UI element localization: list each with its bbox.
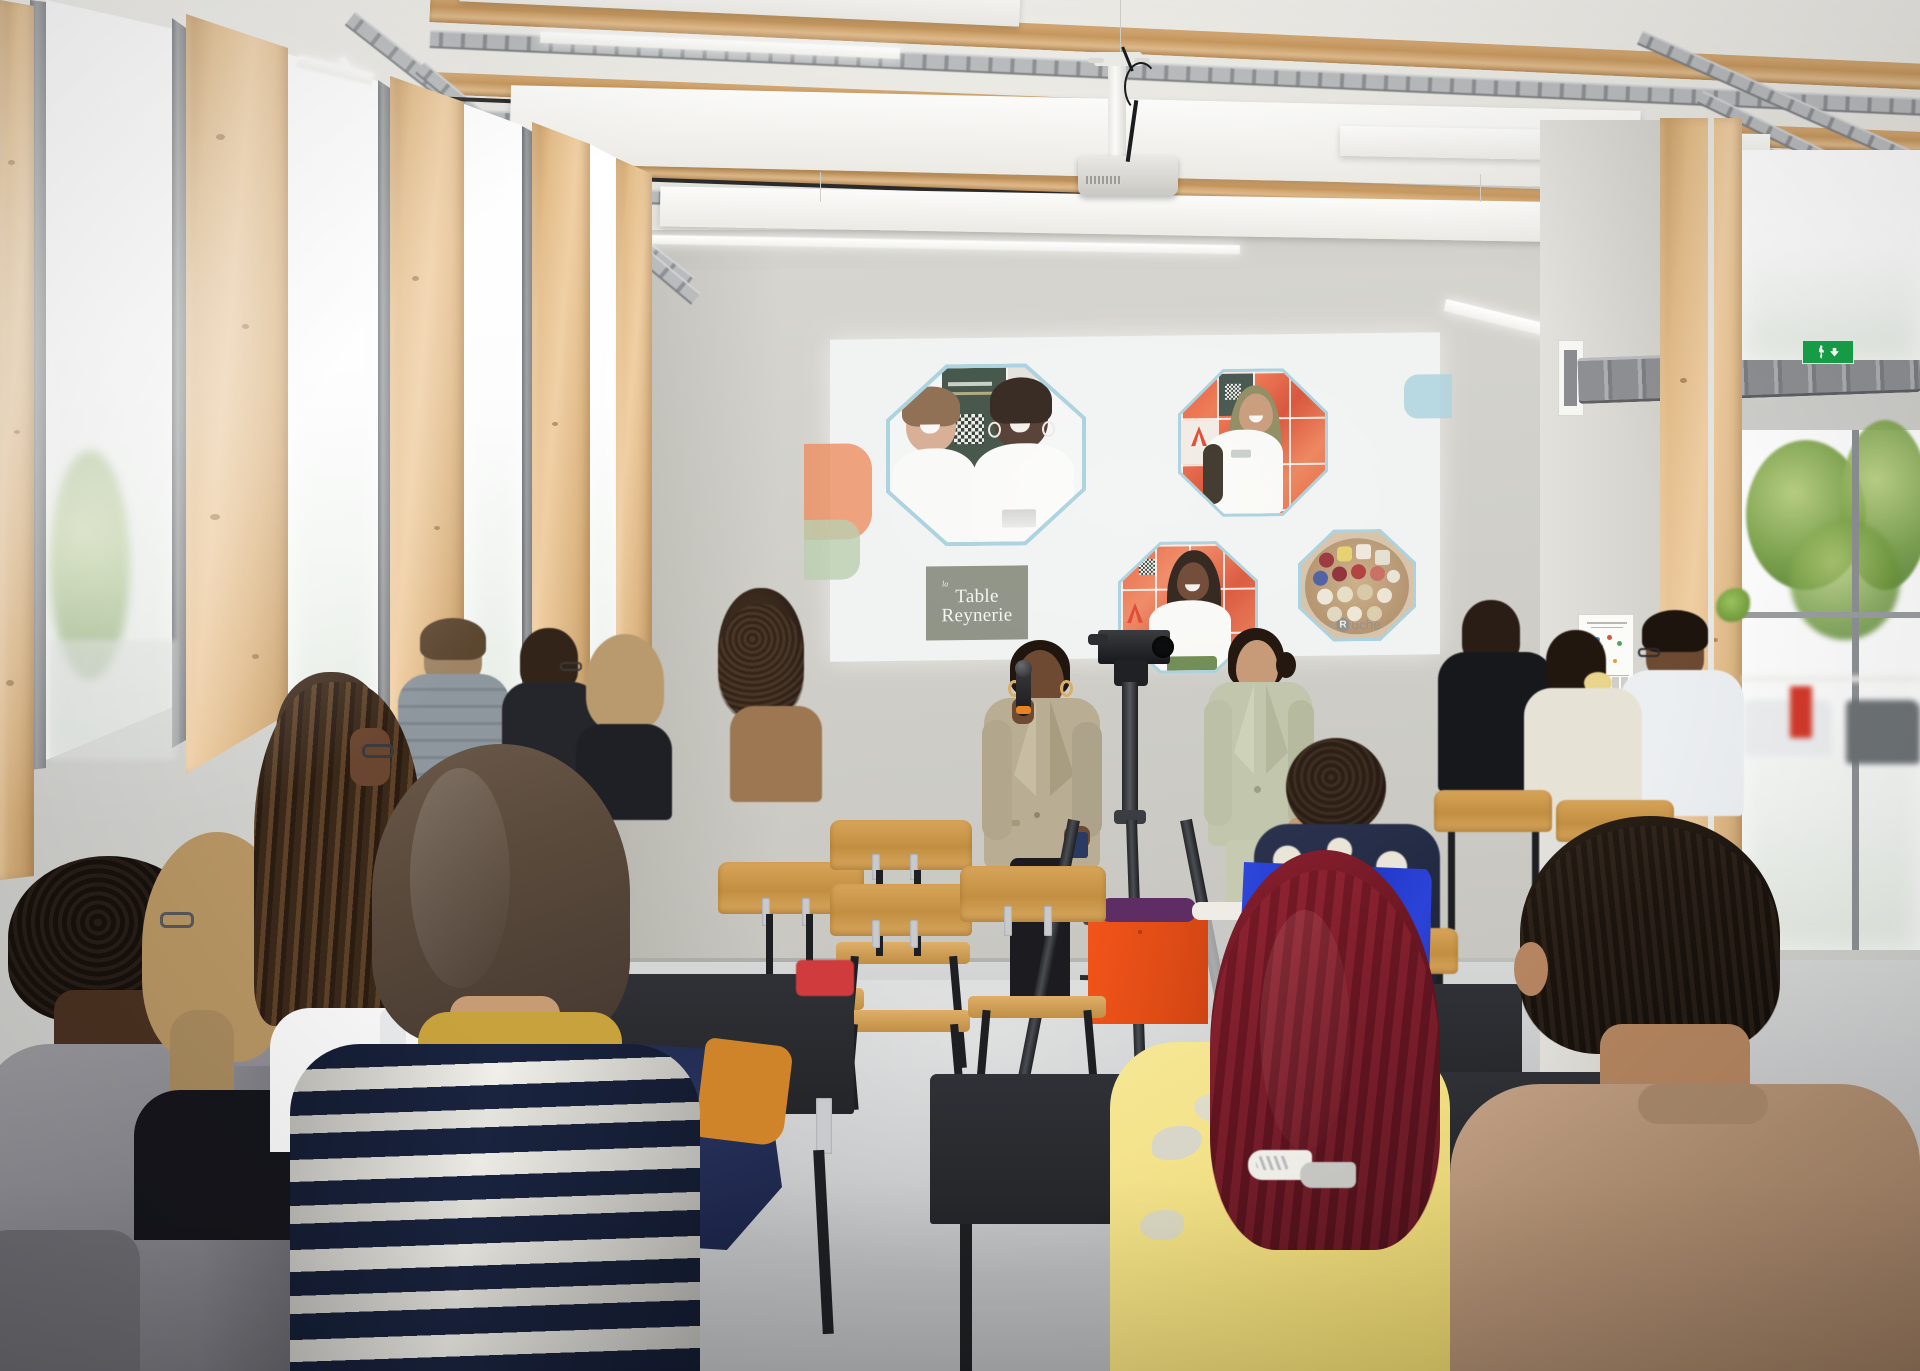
conference-room-photo: la Table Reynerie la R uche — [0, 0, 1920, 1371]
brand-logo-line2: Reynerie — [942, 606, 1013, 625]
attendee-tan-shirt — [1450, 816, 1920, 1371]
chair-leg-left — [960, 1224, 972, 1371]
microphone-band — [1016, 706, 1031, 714]
slide-woman-a-hair — [902, 386, 960, 427]
window-mullion-2 — [172, 18, 186, 748]
red-hair-highlight — [1260, 910, 1350, 1150]
slide-woman-b-earring-right — [1042, 421, 1055, 437]
tripod-centre-column — [1122, 682, 1138, 814]
blouse-floral-motif-3 — [1140, 1210, 1184, 1240]
pastry-12 — [1357, 584, 1373, 600]
slide-shape-green — [804, 519, 860, 580]
emergency-exit-sign — [1802, 340, 1854, 364]
exit-arrow-icon — [1830, 348, 1839, 357]
window-pane-2 — [288, 54, 380, 754]
microphone-head — [1015, 660, 1032, 677]
running-man-icon — [1817, 345, 1826, 359]
chair-back-clip-left — [872, 920, 880, 948]
slide-headscarf-face — [1239, 393, 1273, 433]
window-right-transom — [1742, 612, 1920, 618]
chair-back — [960, 866, 1106, 922]
blonde-ponytail-glasses — [160, 912, 194, 928]
host-logo-hexagon-mark: R — [1336, 617, 1349, 632]
timber-post-1 — [0, 0, 34, 880]
pastry-2 — [1337, 546, 1352, 561]
blonde-bun-hair — [586, 634, 664, 730]
bob-striped-top-shadow — [290, 1044, 700, 1371]
slide-woman-b-earring-left — [988, 422, 1001, 438]
slide-host-logo: la R uche — [1328, 617, 1381, 633]
window-pane-4 — [590, 144, 616, 704]
curly-hair-strands — [718, 604, 804, 720]
attendee-bob-striped-top — [290, 744, 700, 1371]
projector-vent-grille — [1086, 176, 1122, 184]
projector-mount-arm-left — [1088, 58, 1104, 63]
camera-lens — [1152, 636, 1174, 658]
pastry-10 — [1317, 589, 1333, 605]
grey-sneaker-on-floor — [1300, 1162, 1356, 1188]
panel-hanger-wire-3 — [1480, 174, 1481, 202]
host-logo-prefix: la — [1328, 622, 1333, 629]
chair-bracket-right — [816, 1098, 832, 1154]
slide-woman-b-tshirt — [974, 443, 1074, 543]
slide-tshirt-logo — [1002, 509, 1036, 527]
attendee-red-hair-yellow-floral — [1110, 850, 1470, 1371]
timber-post-2 — [186, 14, 288, 774]
tan-shirt-body — [1450, 1084, 1920, 1371]
dark-hair-head — [520, 628, 578, 690]
host-logo-text: uche — [1351, 617, 1380, 632]
presenter1-arm-left — [982, 720, 1012, 840]
tan-shirt-hair-texture — [1520, 826, 1780, 1054]
tan-shirt-ear — [1514, 942, 1548, 996]
parked-car-white — [1744, 700, 1832, 756]
parked-car-dark — [1846, 700, 1920, 764]
jacket-orange-panel-right — [694, 1037, 794, 1147]
pastry-9 — [1387, 570, 1400, 583]
chair-back-clip-left — [1004, 906, 1012, 936]
curly-hair-jacket — [730, 706, 822, 802]
white-shirt-hair — [1642, 610, 1708, 652]
slide-woman-a-tshirt — [892, 448, 976, 543]
chair-leg-right — [813, 1150, 834, 1334]
slide-shape-blue — [1404, 374, 1452, 419]
afro-texture — [1286, 738, 1386, 836]
window-right-upper — [1742, 150, 1920, 360]
window-mullion-3 — [378, 80, 390, 740]
duct-wall-plate-inner — [1564, 350, 1577, 406]
white-railing — [1742, 676, 1920, 682]
tan-shirt-collar — [1638, 1084, 1768, 1124]
panel-hanger-wire-2 — [820, 172, 821, 202]
pastry-3 — [1356, 544, 1371, 559]
chair-back — [830, 820, 972, 870]
slide-headscarf-arm — [1203, 444, 1223, 504]
projector-cable — [1124, 62, 1158, 112]
projected-slide: la Table Reynerie la R uche — [830, 332, 1440, 661]
qr-poster-text — [948, 382, 992, 387]
projector-mount-pole — [1108, 56, 1126, 160]
slide-braids-face — [1177, 562, 1209, 600]
chair-back-clip-right — [910, 920, 918, 948]
red-item-between-chairs — [796, 960, 854, 996]
presenter2-hair-bun — [1276, 652, 1296, 678]
outside-wall-left — [50, 640, 176, 760]
slide-headscarf-tshirt-logo — [1231, 450, 1251, 458]
pastry-4 — [1375, 550, 1390, 565]
attendee-curly-hair-brown-jacket — [700, 588, 820, 798]
slide-brand-logo: la Table Reynerie — [926, 565, 1028, 640]
red-street-object — [1790, 686, 1812, 738]
grey-puffer-hair — [420, 618, 486, 660]
attendee-edge-crop-left — [0, 1230, 140, 1371]
camera-mic — [1088, 634, 1108, 645]
chair-back-clip-right — [1044, 906, 1052, 936]
sneaker-stripes — [1256, 1156, 1290, 1170]
pastry-11 — [1337, 586, 1353, 602]
bob-hair-sheen — [410, 768, 510, 988]
brand-logo-prefix: la — [942, 581, 948, 589]
foliage-right-3 — [1790, 520, 1900, 640]
chair-back — [830, 884, 972, 936]
slide-woman-b-hair — [990, 377, 1052, 424]
